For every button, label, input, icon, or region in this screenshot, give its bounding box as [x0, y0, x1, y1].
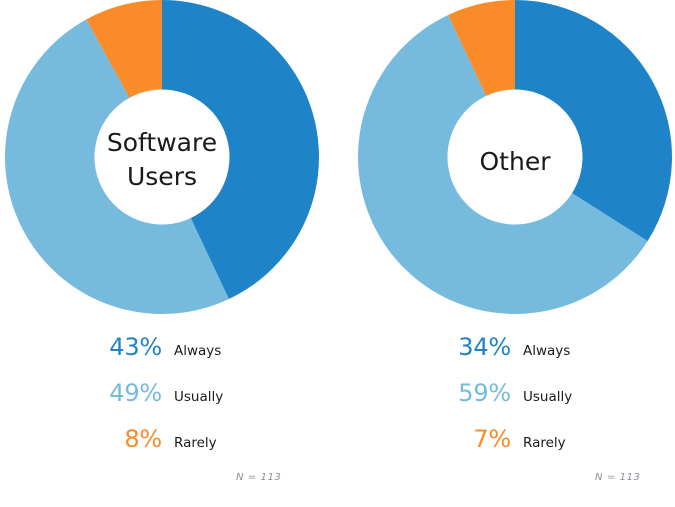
legend-label-usually: Usually [174, 389, 223, 405]
donut-chart-software-users: Software Users [5, 0, 319, 320]
legend-item-always[interactable]: 43% Always [100, 333, 300, 379]
legend-label-always: Always [174, 343, 221, 359]
legend-label-rarely: Rarely [523, 435, 566, 451]
legend-value-always: 34% [449, 333, 511, 361]
legend-item-rarely[interactable]: 8% Rarely [100, 425, 300, 471]
donut-svg-right: Other [358, 0, 675, 320]
legend-value-always: 43% [100, 333, 162, 361]
legend-value-usually: 49% [100, 379, 162, 407]
legend-item-always[interactable]: 34% Always [449, 333, 649, 379]
donut-slice-always[interactable] [515, 0, 672, 241]
legend-label-usually: Usually [523, 389, 572, 405]
legend-value-rarely: 7% [449, 425, 511, 453]
donut-center-label-line1: Other [480, 147, 552, 176]
legend-label-always: Always [523, 343, 570, 359]
donut-chart-other: Other [358, 0, 675, 320]
donut-slices-left [5, 0, 319, 314]
donut-svg-left: Software Users [5, 0, 319, 320]
legend-item-usually[interactable]: 59% Usually [449, 379, 649, 425]
legend-item-usually[interactable]: 49% Usually [100, 379, 300, 425]
footnote-sample-size-right: N = 113 [595, 472, 641, 483]
legend-other: 34% Always 59% Usually 7% Rarely [449, 333, 649, 471]
footnote-sample-size-left: N = 113 [236, 472, 282, 483]
legend-software-users: 43% Always 49% Usually 8% Rarely [100, 333, 300, 471]
donut-center-label-line1: Software [107, 128, 217, 157]
legend-item-rarely[interactable]: 7% Rarely [449, 425, 649, 471]
donut-chart-board: Software Users Other 43% Always 49% Usua… [0, 0, 675, 507]
donut-center-label-line2: Users [127, 162, 197, 191]
legend-value-rarely: 8% [100, 425, 162, 453]
legend-label-rarely: Rarely [174, 435, 217, 451]
legend-value-usually: 59% [449, 379, 511, 407]
